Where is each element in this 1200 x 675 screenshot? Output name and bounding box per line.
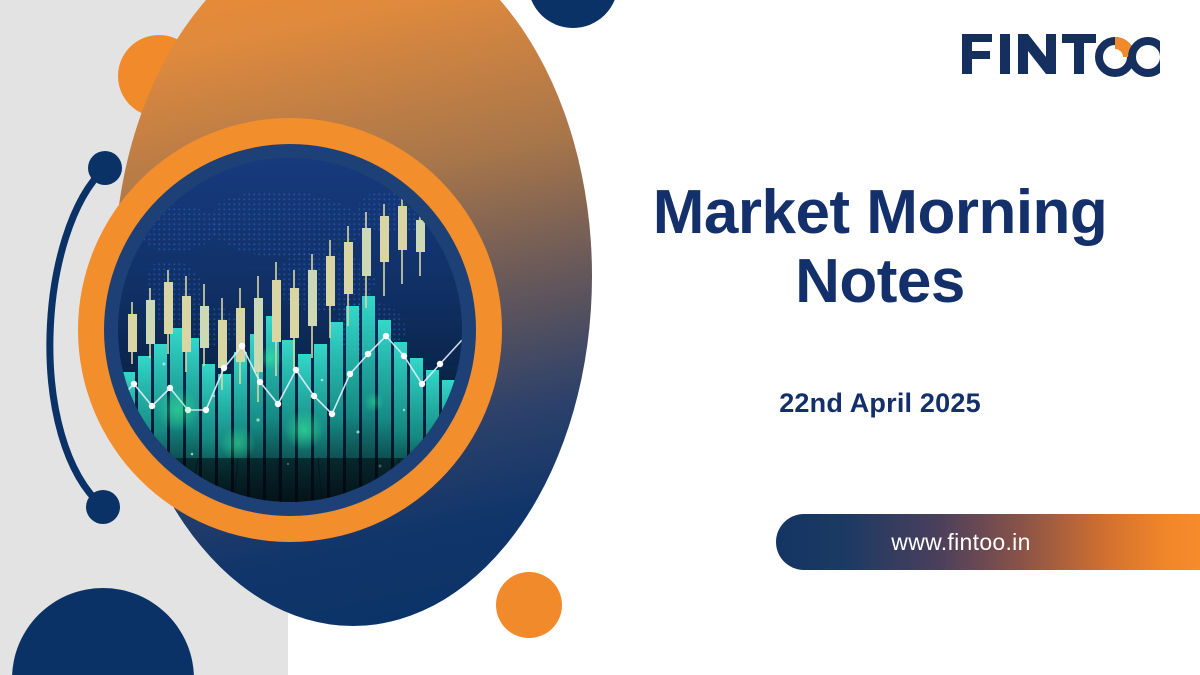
website-url-pill[interactable]: www.fintoo.in — [776, 514, 1200, 570]
arc-endpoint-dot-top — [88, 151, 122, 185]
navy-half-circle-top-decor — [528, 0, 618, 28]
page-title-line-2: Notes — [600, 247, 1160, 316]
fintoo-logo[interactable] — [960, 28, 1160, 80]
arc-endpoint-dot-bottom — [86, 490, 120, 524]
publication-date: 22nd April 2025 — [600, 388, 1160, 419]
orange-circle-bottom-decor — [496, 572, 562, 638]
page-title: Market Morning Notes — [600, 178, 1160, 317]
website-url-label: www.fintoo.in — [891, 529, 1084, 556]
page-title-line-1: Market Morning — [600, 178, 1160, 247]
fintoo-wordmark-icon — [960, 28, 1160, 80]
market-chart-illustration-icon — [118, 158, 462, 502]
poster-canvas: Market Morning Notes 22nd April 2025 www… — [0, 0, 1200, 675]
hero-chart-image — [118, 158, 462, 502]
